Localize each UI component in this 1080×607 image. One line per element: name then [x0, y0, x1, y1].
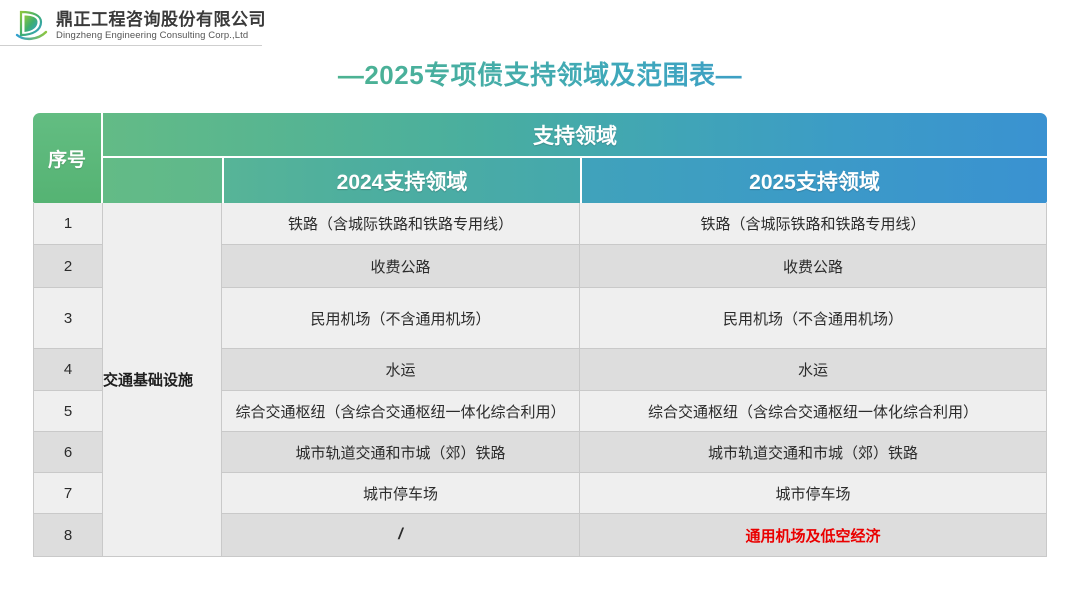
cell-2024: 综合交通枢纽（含综合交通枢纽一体化综合利用） [222, 391, 580, 432]
cell-2024: 收费公路 [222, 245, 580, 288]
cell-category: 交通基础设施 [103, 203, 222, 557]
header-col-2024: 2024支持领域 [222, 158, 580, 203]
cell-2025: 城市轨道交通和市城（郊）铁路 [580, 432, 1047, 473]
cell-2025: 铁路（含城际铁路和铁路专用线） [580, 203, 1047, 245]
cell-2025: 综合交通枢纽（含综合交通枢纽一体化综合利用） [580, 391, 1047, 432]
cell-2024: / [222, 514, 580, 557]
header-group-support-scope: 支持领域 [103, 113, 1047, 158]
cell-seq: 2 [33, 245, 103, 288]
brand-divider [0, 45, 262, 46]
cell-2025: 民用机场（不含通用机场） [580, 288, 1047, 349]
cell-2024: 城市轨道交通和市城（郊）铁路 [222, 432, 580, 473]
support-scope-table-wrapper: 序号 支持领域 2024支持领域 2025支持领域 1 交通基础设施 铁路（含城… [33, 113, 1047, 557]
table-header-row-top: 序号 支持领域 [33, 113, 1047, 158]
page-title: —2025专项债支持领域及范围表— [0, 55, 1080, 92]
header-col-2025: 2025支持领域 [580, 158, 1047, 203]
support-scope-table: 序号 支持领域 2024支持领域 2025支持领域 1 交通基础设施 铁路（含城… [33, 113, 1047, 557]
cell-2025: 收费公路 [580, 245, 1047, 288]
cell-seq: 8 [33, 514, 103, 557]
table-header-row-sub: 2024支持领域 2025支持领域 [33, 158, 1047, 203]
table-row: 1 交通基础设施 铁路（含城际铁路和铁路专用线） 铁路（含城际铁路和铁路专用线） [33, 203, 1047, 245]
cell-2025: 水运 [580, 349, 1047, 391]
cell-seq: 7 [33, 473, 103, 514]
cell-seq: 6 [33, 432, 103, 473]
cell-2024: 民用机场（不含通用机场） [222, 288, 580, 349]
cell-seq: 1 [33, 203, 103, 245]
cell-2024: 铁路（含城际铁路和铁路专用线） [222, 203, 580, 245]
cell-seq: 5 [33, 391, 103, 432]
dingzheng-leaf-d-logo-icon [14, 8, 50, 44]
header-seq: 序号 [33, 113, 103, 203]
company-name-cn: 鼎正工程咨询股份有限公司 [56, 11, 266, 28]
company-name-en: Dingzheng Engineering Consulting Corp.,L… [56, 31, 266, 41]
cell-2024: 水运 [222, 349, 580, 391]
table-body: 1 交通基础设施 铁路（含城际铁路和铁路专用线） 铁路（含城际铁路和铁路专用线）… [33, 203, 1047, 557]
cell-seq: 4 [33, 349, 103, 391]
cell-seq: 3 [33, 288, 103, 349]
cell-2025: 城市停车场 [580, 473, 1047, 514]
header-category-blank [103, 158, 222, 203]
cell-2025: 通用机场及低空经济 [580, 514, 1047, 557]
cell-2024: 城市停车场 [222, 473, 580, 514]
brand-header: 鼎正工程咨询股份有限公司 Dingzheng Engineering Consu… [14, 6, 266, 46]
